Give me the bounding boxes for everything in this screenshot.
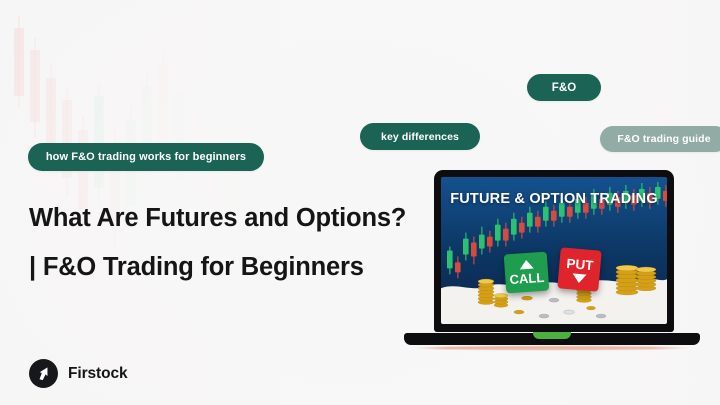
tag-label: key differences xyxy=(381,131,459,143)
put-card: PUT xyxy=(557,247,601,291)
laptop-lid: FUTURE & OPTION TRADING CALL PUT xyxy=(434,170,674,332)
call-card: CALL xyxy=(504,252,550,294)
call-label: CALL xyxy=(509,269,545,286)
laptop-base xyxy=(404,333,700,345)
brand-name: Firstock xyxy=(68,365,128,383)
tag-label: how F&O trading works for beginners xyxy=(46,151,246,163)
tag-pill-how-fo-trading-works[interactable]: how F&O trading works for beginners xyxy=(28,143,264,171)
triangle-down-icon xyxy=(571,273,586,283)
triangle-up-icon xyxy=(519,259,534,269)
tag-label: F&O trading guide xyxy=(617,133,710,145)
laptop-shadow xyxy=(412,346,692,350)
put-label: PUT xyxy=(566,255,594,272)
tag-pill-fo[interactable]: F&O xyxy=(527,74,601,101)
page-title: What Are Futures and Options? | F&O Trad… xyxy=(29,194,419,292)
tag-pill-fo-trading-guide[interactable]: F&O trading guide xyxy=(600,126,720,152)
tag-pill-key-differences[interactable]: key differences xyxy=(360,123,480,150)
laptop-trackpad-notch xyxy=(533,332,571,339)
laptop-illustration: FUTURE & OPTION TRADING CALL PUT xyxy=(404,170,700,355)
arrow-up-right-flag-icon xyxy=(29,359,58,388)
tag-label: F&O xyxy=(552,82,577,94)
blog-banner: how F&O trading works for beginners key … xyxy=(0,0,720,405)
brand-logo[interactable]: Firstock xyxy=(29,359,128,388)
laptop-screen: FUTURE & OPTION TRADING CALL PUT xyxy=(441,177,667,324)
